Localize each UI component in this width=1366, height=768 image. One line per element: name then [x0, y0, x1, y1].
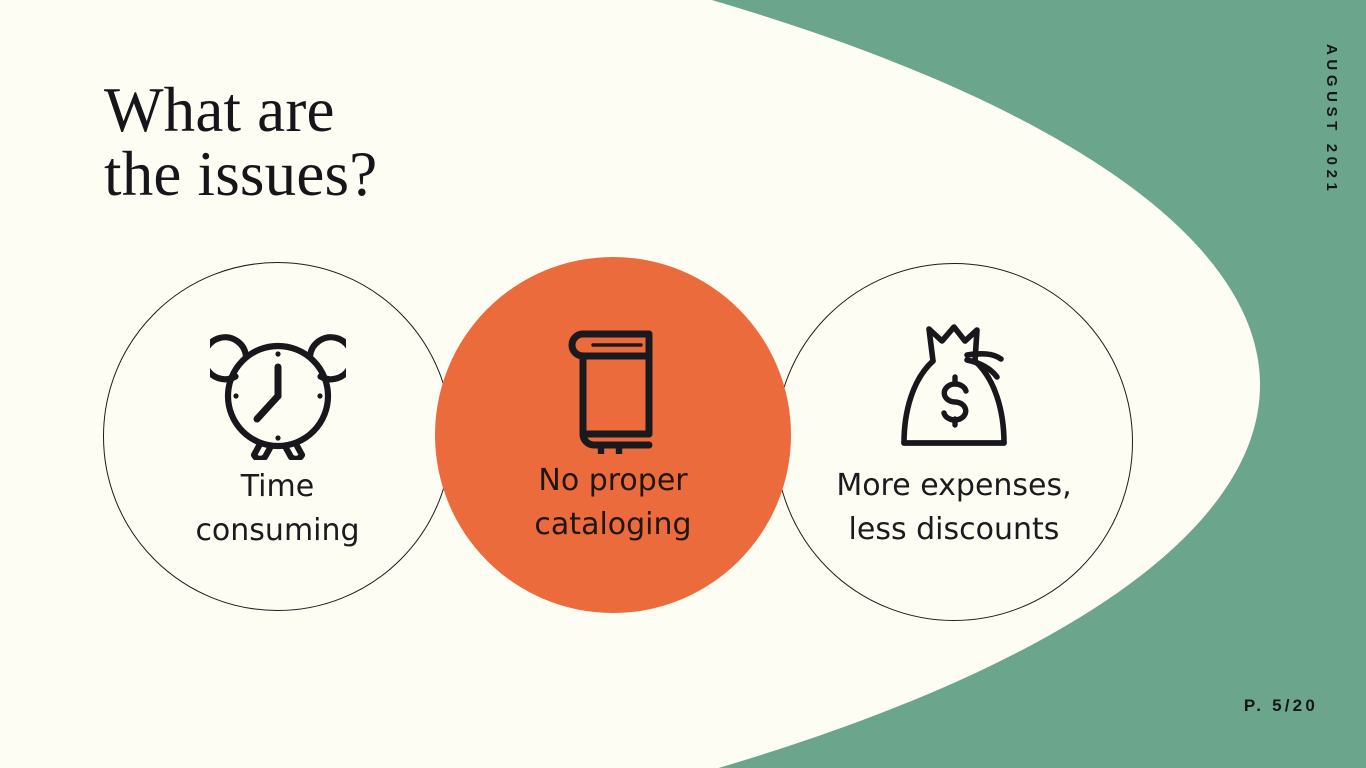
presentation-slide: What are the issues? AUGUST 2021 P. 5/20… [0, 0, 1366, 768]
issue-circle-time-consuming[interactable]: Time consuming [103, 262, 452, 611]
issue-caption: More expenses, less discounts [836, 464, 1071, 551]
money-bag-icon [887, 314, 1021, 464]
page-number: P. 5/20 [1244, 696, 1318, 716]
book-icon [561, 309, 665, 459]
issue-caption: Time consuming [195, 465, 359, 552]
page-title: What are the issues? [104, 78, 724, 207]
alarm-clock-icon [210, 315, 346, 465]
issue-circle-no-proper-cataloging[interactable]: No proper cataloging [435, 257, 791, 613]
issue-caption: No proper cataloging [534, 459, 691, 546]
slide-date-label: AUGUST 2021 [1323, 44, 1340, 195]
issue-circle-more-expenses[interactable]: More expenses, less discounts [775, 263, 1133, 621]
